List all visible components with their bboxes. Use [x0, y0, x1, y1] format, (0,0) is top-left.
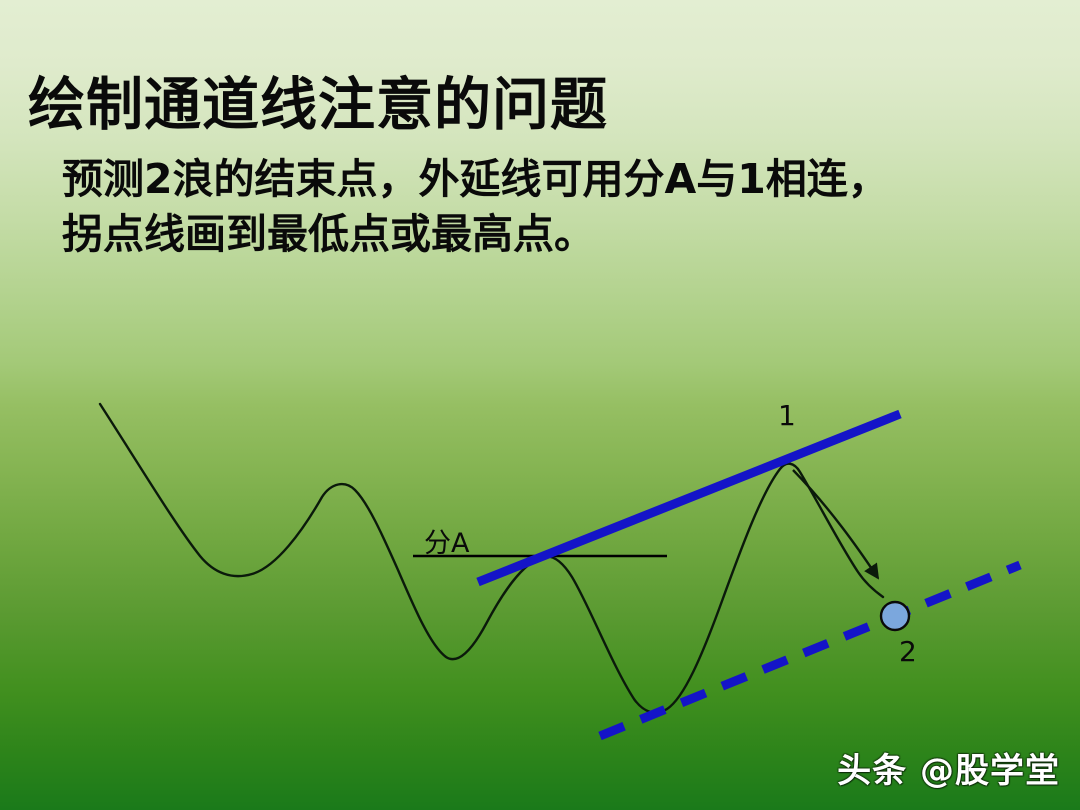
slide-canvas: 绘制通道线注意的问题 预测2浪的结束点，外延线可用分A与1相连， 拐点线画到最低… [0, 0, 1080, 810]
projection-arrow [793, 470, 878, 578]
elliott-wave-diagram [0, 0, 1080, 810]
label-wave-2: 2 [899, 635, 917, 668]
watermark: 头条 @股学堂 [837, 743, 1060, 792]
wave-2-marker [881, 602, 909, 630]
upper-trend-line [478, 414, 900, 582]
label-wave-1: 1 [778, 399, 796, 432]
label-fen-a: 分A [424, 521, 469, 560]
lower-channel-line [600, 565, 1020, 736]
